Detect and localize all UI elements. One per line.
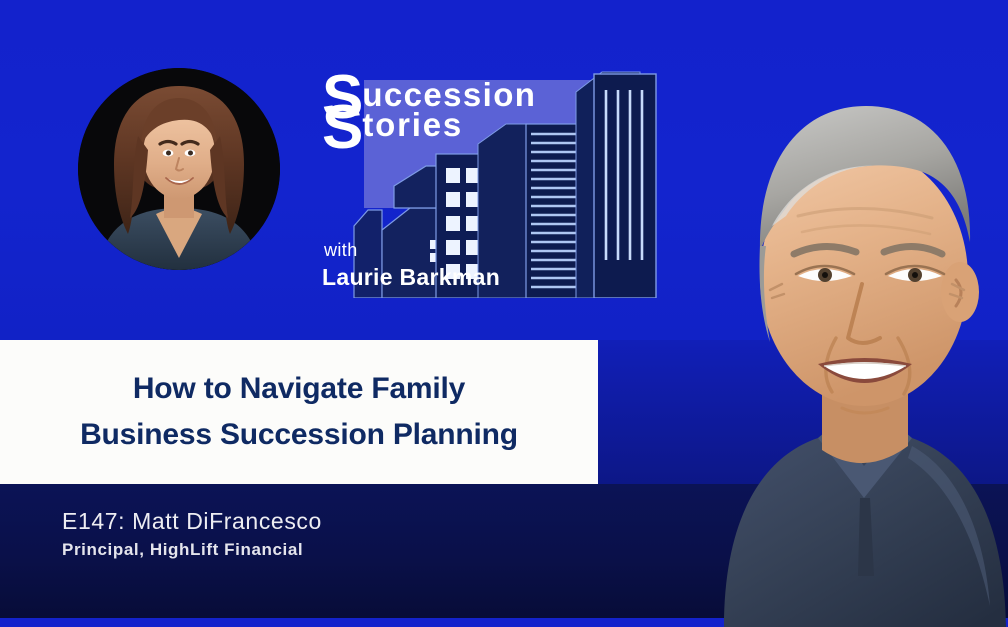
logo-with-label: with (324, 240, 358, 261)
episode-title-line-2: Business Succession Planning (80, 412, 518, 458)
episode-number-and-guest: E147: Matt DiFrancesco (62, 508, 322, 535)
logo-host-name: Laurie Barkman (322, 264, 500, 291)
guest-portrait (612, 46, 1008, 627)
avatar (78, 68, 280, 270)
podcast-episode-cover: S uccession S tories with Laurie Barkman… (0, 0, 1008, 627)
episode-title-line-1: How to Navigate Family (133, 366, 465, 412)
episode-title-card: How to Navigate Family Business Successi… (0, 340, 598, 484)
guest-role: Principal, HighLift Financial (62, 540, 322, 560)
guest-portrait-image (612, 46, 1008, 627)
episode-meta: E147: Matt DiFrancesco Principal, HighLi… (62, 508, 322, 560)
host-headshot-image (78, 68, 280, 270)
